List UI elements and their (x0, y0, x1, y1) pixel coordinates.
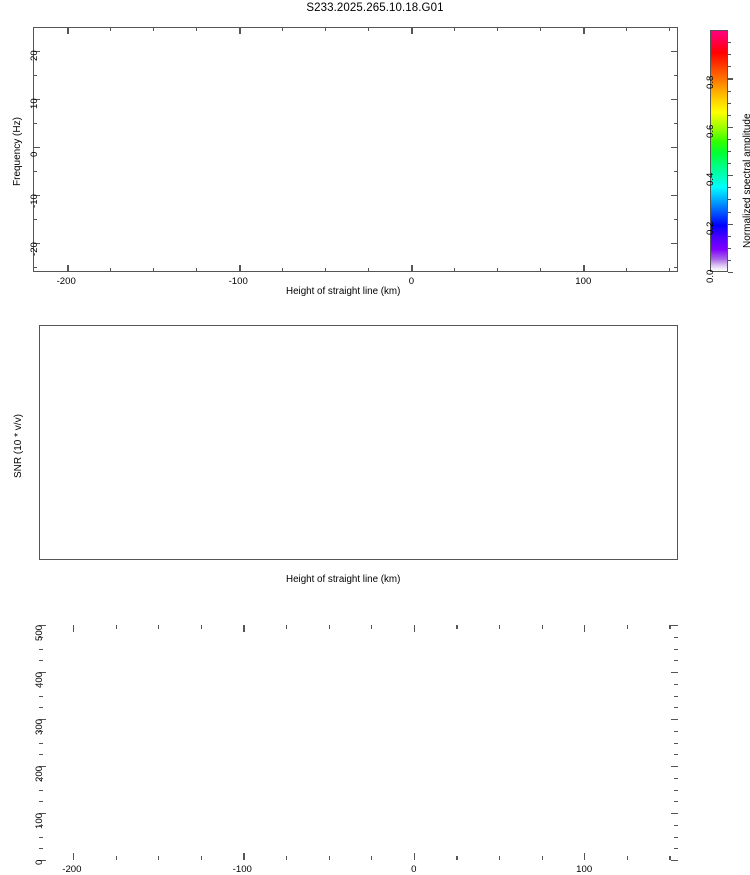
snr-y-minor-tick (674, 696, 678, 697)
snr-y-tick (671, 672, 678, 673)
spectrogram-y-minor-tick (33, 267, 37, 268)
spectrogram-y-minor-tick (33, 27, 37, 28)
snr-x-minor-tick (456, 625, 457, 629)
snr-y-minor-tick (674, 684, 678, 685)
spectrogram-y-minor-tick (674, 267, 678, 268)
spectrogram-y-minor-tick (674, 27, 678, 28)
snr-x-minor-tick (499, 625, 500, 629)
colorbar-minor-tick (728, 248, 731, 249)
snr-y-minor-tick (39, 707, 43, 708)
snr-x-tick-label: -200 (62, 864, 81, 875)
snr-y-tick (671, 860, 678, 861)
snr-x-minor-tick (371, 856, 372, 860)
snr-y-minor-tick (39, 637, 43, 638)
spectrogram-x-minor-tick (497, 268, 498, 272)
spectrogram-x-minor-tick (368, 27, 369, 31)
snr-x-tick (584, 853, 585, 860)
spectrogram-x-tick-label: 100 (575, 276, 591, 287)
spectrogram-y-tick (33, 147, 40, 148)
snr-y-minor-tick (674, 731, 678, 732)
spectrogram-panel: 20100-10-20 -200-1000100 Height of strai… (0, 0, 750, 300)
snr-x-tick (584, 625, 585, 632)
colorbar-minor-tick (728, 199, 731, 200)
spectrogram-y-tick (671, 147, 678, 148)
snr-y-tick-label: 500 (34, 625, 45, 641)
spectrogram-frame (33, 27, 678, 272)
snr-x-minor-tick (669, 625, 670, 629)
snr-x-tick (243, 853, 244, 860)
snr-x-tick (73, 853, 74, 860)
spectrogram-y-tick (671, 243, 678, 244)
spectrogram-x-tick (67, 27, 68, 34)
snr-y-minor-tick (674, 743, 678, 744)
snr-x-minor-tick (542, 856, 543, 860)
colorbar-tick-label: 0.2 (705, 221, 716, 234)
spectrogram-x-minor-tick (153, 268, 154, 272)
snr-y-tick-label: 200 (34, 766, 45, 782)
snr-x-minor-tick (158, 625, 159, 629)
snr-y-minor-tick (674, 848, 678, 849)
spectrogram-x-minor-tick (325, 27, 326, 31)
snr-y-minor-tick (39, 825, 43, 826)
snr-y-minor-tick (39, 848, 43, 849)
snr-y-minor-tick (674, 837, 678, 838)
snr-x-tick (73, 625, 74, 632)
spectrogram-y-minor-tick (33, 123, 37, 124)
snr-y-tick-label: 100 (34, 813, 45, 829)
colorbar-minor-tick (728, 236, 731, 237)
snr-y-minor-tick (39, 684, 43, 685)
spectrogram-x-minor-tick (153, 27, 154, 31)
snr-y-minor-tick (674, 754, 678, 755)
colorbar-tick (728, 175, 733, 176)
snr-x-minor-tick (158, 856, 159, 860)
colorbar-minor-tick (728, 66, 731, 67)
colorbar-minor-tick (728, 54, 731, 55)
spectrogram-y-minor-tick (674, 123, 678, 124)
spectrogram-y-tick (671, 51, 678, 52)
snr-x-minor-tick (456, 856, 457, 860)
snr-y-minor-tick (674, 637, 678, 638)
spectrogram-x-minor-tick (110, 268, 111, 272)
spectrogram-x-minor-tick (368, 268, 369, 272)
snr-y-minor-tick (674, 801, 678, 802)
spectrogram-x-tick (67, 265, 68, 272)
spectrogram-x-tick (583, 27, 584, 34)
snr-x-tick (414, 625, 415, 632)
spectrogram-x-minor-tick (454, 268, 455, 272)
snr-x-minor-tick (286, 625, 287, 629)
snr-y-tick (671, 719, 678, 720)
spectrogram-y-tick-label: -20 (29, 242, 40, 256)
spectrogram-x-minor-tick (196, 27, 197, 31)
snr-y-tick-label: 400 (34, 672, 45, 688)
snr-x-minor-tick (201, 625, 202, 629)
colorbar-minor-tick (728, 103, 731, 104)
spectrogram-x-axis-label: Height of straight line (km) (286, 286, 400, 297)
spectrogram-y-minor-tick (674, 75, 678, 76)
snr-x-tick-label: -100 (233, 864, 252, 875)
spectrogram-x-minor-tick (626, 268, 627, 272)
snr-y-minor-tick (674, 707, 678, 708)
snr-x-minor-tick (542, 625, 543, 629)
snr-x-minor-tick (627, 625, 628, 629)
spectrogram-x-minor-tick (497, 27, 498, 31)
snr-x-minor-tick (329, 856, 330, 860)
spectrogram-x-minor-tick (325, 268, 326, 272)
snr-x-minor-tick (201, 856, 202, 860)
colorbar-tick (728, 127, 733, 128)
colorbar-label: Normalized spectral amplitude (742, 113, 750, 248)
snr-x-minor-tick (116, 856, 117, 860)
snr-y-minor-tick (39, 649, 43, 650)
spectrogram-x-tick-label: -100 (229, 276, 248, 287)
snr-y-minor-tick (674, 790, 678, 791)
spectrogram-y-minor-tick (674, 171, 678, 172)
snr-panel: 0100200300400500 -200-1000100 Height of … (0, 300, 750, 600)
colorbar-minor-tick (728, 91, 731, 92)
spectrogram-x-tick (411, 265, 412, 272)
spectrogram-y-tick-label: -10 (29, 194, 40, 208)
spectrogram-x-tick (239, 27, 240, 34)
snr-x-minor-tick (286, 856, 287, 860)
colorbar-minor-tick (728, 187, 731, 188)
snr-x-minor-tick (499, 856, 500, 860)
spectrogram-x-minor-tick (110, 27, 111, 31)
snr-y-minor-tick (39, 790, 43, 791)
spectrogram-x-minor-tick (282, 27, 283, 31)
colorbar-minor-tick (728, 151, 731, 152)
spectrogram-x-minor-tick (282, 268, 283, 272)
spectrogram-y-minor-tick (33, 75, 37, 76)
snr-y-tick (671, 813, 678, 814)
colorbar-tick (728, 272, 733, 273)
spectrogram-y-tick-label: 20 (29, 50, 40, 61)
colorbar-minor-tick (728, 212, 731, 213)
snr-y-minor-tick (674, 649, 678, 650)
spectrogram-x-minor-tick (669, 27, 670, 31)
spectrogram-y-tick (671, 99, 678, 100)
snr-y-tick-label: 300 (34, 719, 45, 735)
snr-x-tick (243, 625, 244, 632)
snr-y-minor-tick (39, 778, 43, 779)
colorbar-minor-tick (728, 163, 731, 164)
snr-y-minor-tick (39, 743, 43, 744)
spectrogram-x-minor-tick (540, 27, 541, 31)
spectrogram-y-minor-tick (674, 219, 678, 220)
snr-y-minor-tick (39, 837, 43, 838)
snr-y-minor-tick (39, 801, 43, 802)
spectrogram-y-tick-label: 10 (29, 98, 40, 109)
spectrogram-y-minor-tick (33, 219, 37, 220)
colorbar-tick (728, 78, 733, 79)
snr-y-minor-tick (674, 825, 678, 826)
colorbar-tick-label: 0.0 (705, 270, 716, 283)
snr-x-minor-tick (371, 625, 372, 629)
snr-y-minor-tick (39, 731, 43, 732)
colorbar-minor-tick (728, 139, 731, 140)
snr-x-axis-label: Height of straight line (km) (286, 574, 400, 585)
snr-y-minor-tick (39, 696, 43, 697)
spectrogram-x-minor-tick (196, 268, 197, 272)
spectrogram-y-tick-label: 0 (29, 152, 40, 157)
snr-x-tick-label: 0 (411, 864, 416, 875)
colorbar-tick (728, 224, 733, 225)
snr-y-tick (671, 625, 678, 626)
snr-x-minor-tick (116, 625, 117, 629)
colorbar-tick-label: 0.8 (705, 76, 716, 89)
spectrogram-x-minor-tick (626, 27, 627, 31)
spectrogram-y-axis-label: Frequency (Hz) (12, 117, 23, 186)
snr-x-tick (414, 853, 415, 860)
spectrogram-y-minor-tick (33, 171, 37, 172)
spectrogram-x-tick-label: 0 (409, 276, 414, 287)
spectrogram-x-minor-tick (454, 27, 455, 31)
spectrogram-x-tick (239, 265, 240, 272)
snr-y-axis-label: SNR (10 * v/v) (13, 414, 24, 478)
snr-x-minor-tick (627, 856, 628, 860)
spectrogram-x-tick (583, 265, 584, 272)
snr-frame (39, 325, 678, 560)
snr-y-minor-tick (39, 754, 43, 755)
colorbar-tick-label: 0.4 (705, 173, 716, 186)
spectrogram-x-minor-tick (669, 268, 670, 272)
snr-y-tick (671, 766, 678, 767)
snr-y-minor-tick (674, 660, 678, 661)
spectrogram-x-tick-label: -200 (57, 276, 76, 287)
colorbar-minor-tick (728, 260, 731, 261)
spectrogram-x-tick (411, 27, 412, 34)
snr-x-minor-tick (329, 625, 330, 629)
spectrogram-x-minor-tick (540, 268, 541, 272)
snr-y-minor-tick (674, 778, 678, 779)
snr-x-minor-tick (669, 856, 670, 860)
colorbar-tick-label: 0.6 (705, 124, 716, 137)
spectrogram-y-tick (671, 195, 678, 196)
colorbar-minor-tick (728, 115, 731, 116)
snr-y-tick-label: 0 (34, 860, 45, 865)
colorbar-minor-tick (728, 42, 731, 43)
snr-y-minor-tick (39, 660, 43, 661)
colorbar (710, 30, 728, 272)
snr-x-tick-label: 100 (576, 864, 592, 875)
